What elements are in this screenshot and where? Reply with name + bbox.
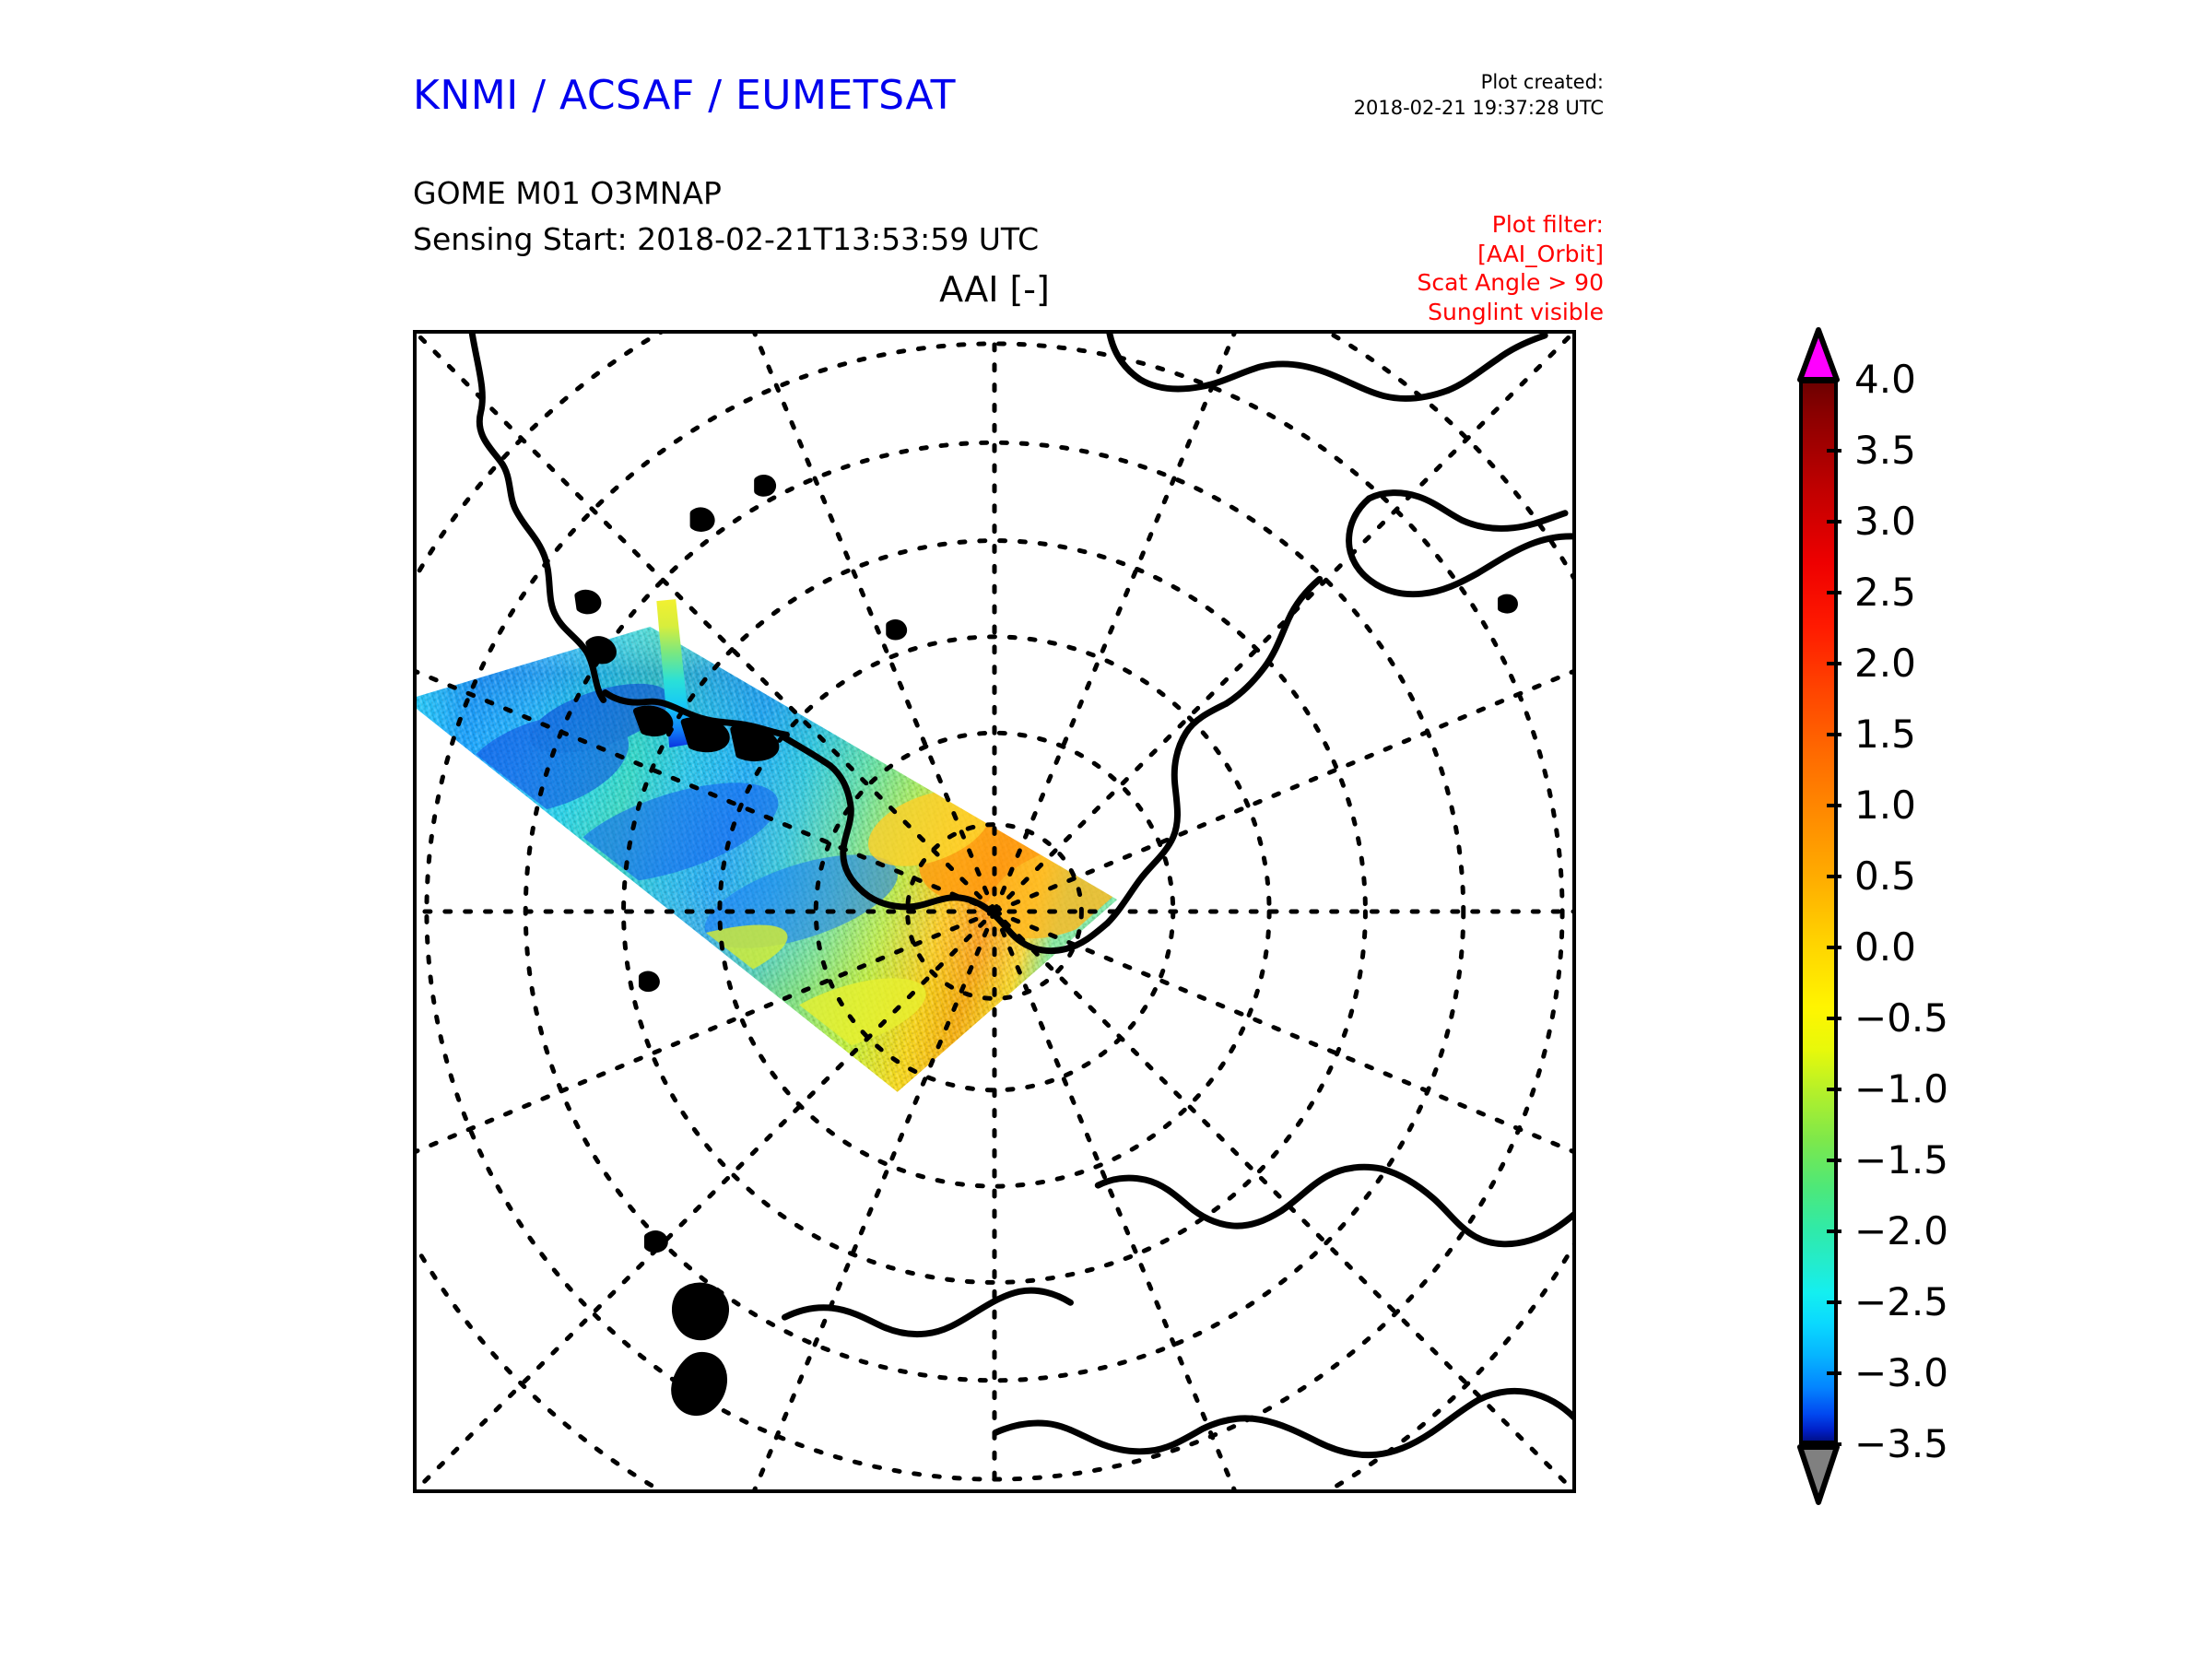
plot-created-block: Plot created: 2018-02-21 19:37:28 UTC xyxy=(1272,70,1604,121)
organization-title: KNMI / ACSAF / EUMETSAT xyxy=(413,72,956,119)
map-plot-area[interactable] xyxy=(413,330,1576,1493)
colorbar-tick-label: 2.0 xyxy=(1854,644,1916,683)
sensing-start: Sensing Start: 2018-02-21T13:53:59 UTC xyxy=(413,221,1039,257)
data-swath xyxy=(417,599,1141,1092)
colorbar-tick-label: −1.5 xyxy=(1854,1141,1948,1180)
colorbar-tick-label: 2.5 xyxy=(1854,573,1916,612)
colorbar-tick-label: 3.5 xyxy=(1854,431,1916,470)
colorbar-gradient-fill xyxy=(1803,383,1834,1441)
plot-created-timestamp: 2018-02-21 19:37:28 UTC xyxy=(1272,96,1604,122)
plot-filter-label: Plot filter: xyxy=(1309,210,1604,240)
colorbar-tick-label: 4.0 xyxy=(1854,360,1916,399)
colorbar-tick-label: 0.5 xyxy=(1854,857,1916,896)
colorbar-over-arrow xyxy=(1797,327,1840,382)
colorbar-tick-label: −3.0 xyxy=(1854,1354,1948,1393)
dataset-name: GOME M01 O3MNAP xyxy=(413,175,722,211)
colorbar-tick-label: 1.5 xyxy=(1854,715,1916,754)
plot-created-label: Plot created: xyxy=(1272,70,1604,96)
colorbar-tick-label: −2.0 xyxy=(1854,1212,1948,1251)
colorbar-under-arrow xyxy=(1797,1442,1840,1505)
colorbar-tick-label: −1.0 xyxy=(1854,1070,1948,1109)
page-title: AAI [-] xyxy=(413,269,1576,310)
colorbar-tick-label: 0.0 xyxy=(1854,928,1916,967)
polar-map-svg xyxy=(417,334,1572,1489)
colorbar-tick-label: −2.5 xyxy=(1854,1283,1948,1322)
colorbar-tick-container: 4.03.53.02.52.01.51.00.50.0−0.5−1.0−1.5−… xyxy=(1797,327,2166,1507)
colorbar-gradient-bar xyxy=(1799,380,1838,1444)
colorbar-tick-label: −3.5 xyxy=(1854,1425,1948,1464)
colorbar-tick-label: 1.0 xyxy=(1854,786,1916,825)
colorbar-tick-label: 3.0 xyxy=(1854,502,1916,541)
colorbar[interactable]: 4.03.53.02.52.01.51.00.50.0−0.5−1.0−1.5−… xyxy=(1797,327,2166,1507)
colorbar-tick-label: −0.5 xyxy=(1854,999,1948,1038)
plot-filter-orbit: [AAI_Orbit] xyxy=(1309,240,1604,269)
